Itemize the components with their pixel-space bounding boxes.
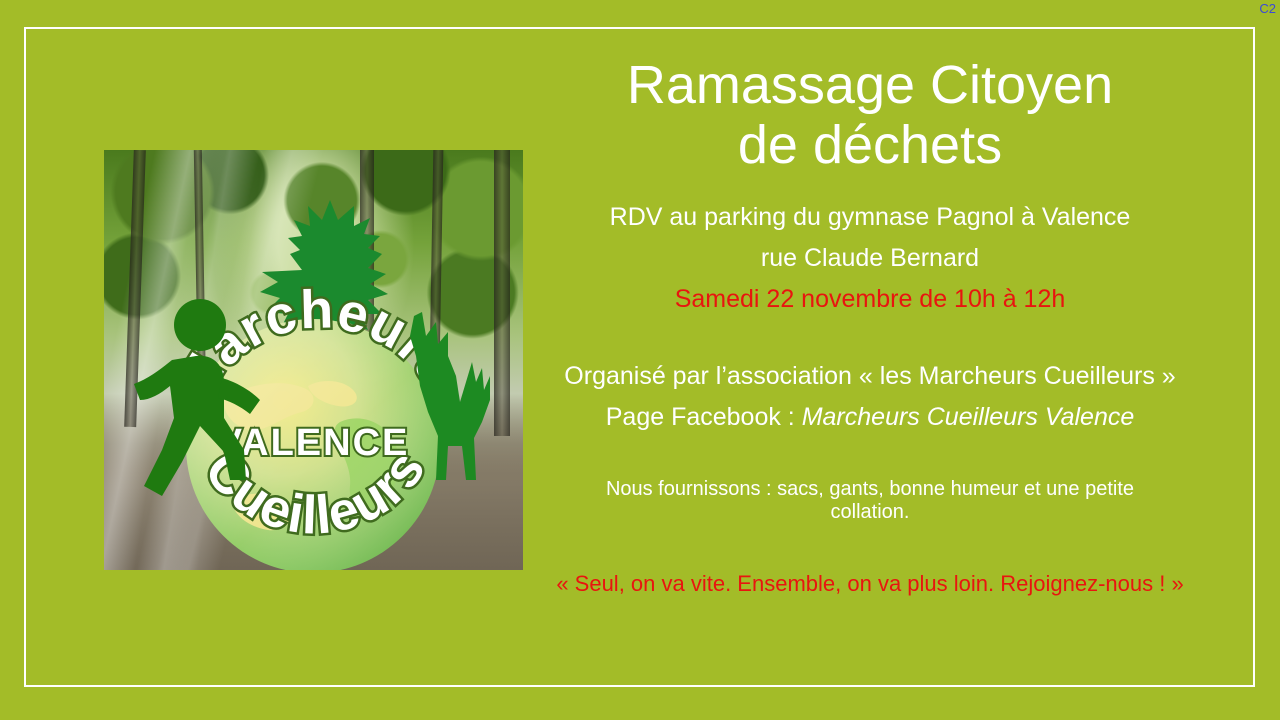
organizer-line: Organisé par l’association « les Marcheu… bbox=[545, 356, 1195, 397]
facebook-label: Page Facebook : bbox=[606, 403, 802, 431]
spacer bbox=[545, 438, 1195, 478]
slide-canvas: C2 bbox=[0, 0, 1280, 720]
facebook-line: Page Facebook : Marcheurs Cueilleurs Val… bbox=[545, 397, 1195, 438]
event-datetime: Samedi 22 novembre de 10h à 12h bbox=[545, 279, 1195, 320]
spacer bbox=[545, 179, 1195, 197]
spacer bbox=[545, 320, 1195, 356]
meeting-street: rue Claude Bernard bbox=[545, 238, 1195, 279]
slogan-text: « Seul, on va vite. Ensemble, on va plus… bbox=[545, 570, 1195, 598]
association-logo-image: Marcheurs Cueilleurs VALENCE bbox=[104, 150, 523, 570]
slide-corner-tag: C2 bbox=[1259, 2, 1276, 16]
supplies-note: Nous fournissons : sacs, gants, bonne hu… bbox=[545, 478, 1195, 524]
spacer bbox=[545, 524, 1195, 570]
facebook-page-name: Marcheurs Cueilleurs Valence bbox=[802, 403, 1135, 431]
svg-text:VALENCE: VALENCE bbox=[217, 422, 410, 464]
meeting-venue: RDV au parking du gymnase Pagnol à Valen… bbox=[545, 197, 1195, 238]
title-line-1: Ramassage Citoyen bbox=[545, 55, 1195, 115]
logo-artwork: Marcheurs Cueilleurs VALENCE bbox=[104, 150, 523, 570]
poster-text-column: Ramassage Citoyen de déchets RDV au park… bbox=[545, 55, 1195, 598]
page-title: Ramassage Citoyen de déchets bbox=[545, 55, 1195, 175]
title-line-2: de déchets bbox=[545, 115, 1195, 175]
